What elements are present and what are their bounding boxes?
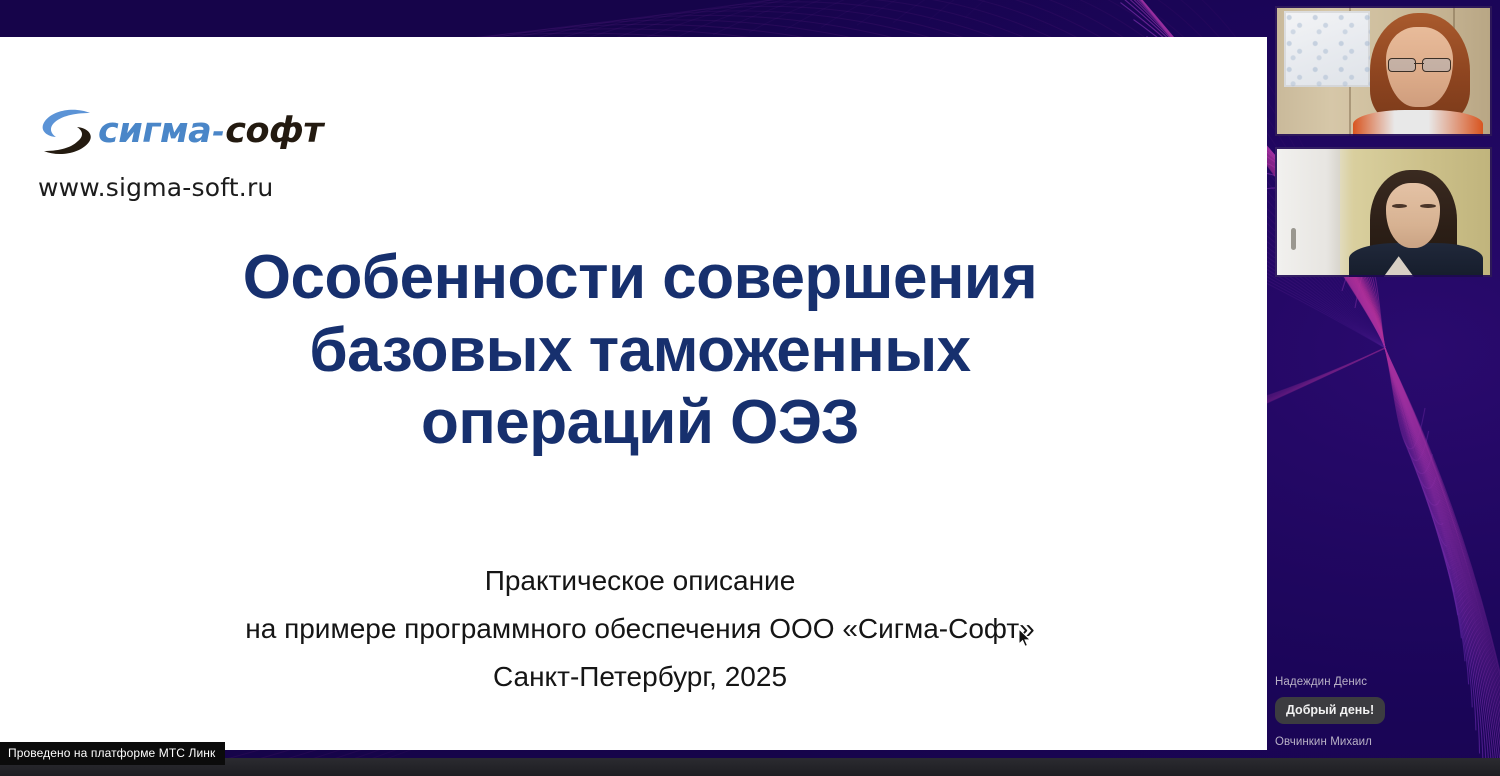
participants-panel: Надеждин Денис Добрый день! Овчинкин Мих… (1267, 0, 1500, 776)
slide-subtitle-line-1: Практическое описание (80, 557, 1200, 605)
video-conference-screen: сигма-софт www.sigma-soft.ru Особенности… (0, 0, 1500, 776)
curtain-pattern (1284, 11, 1371, 86)
sigma-soft-swoosh-icon (38, 105, 94, 157)
slide-subtitle-line-3: Санкт-Петербург, 2025 (80, 653, 1200, 701)
door-behind-participant-2 (1275, 147, 1340, 277)
chat-author-1: Надеждин Денис (1275, 676, 1495, 688)
glasses-right-lens (1422, 58, 1450, 72)
window-behind-participant-1 (1284, 11, 1371, 86)
chat-overlay[interactable]: Надеждин Денис Добрый день! Овчинкин Мих… (1275, 676, 1495, 748)
slide-title: Особенности совершения базовых таможенны… (120, 242, 1160, 460)
logo-word-dash: - (211, 115, 225, 150)
chat-message-bubble-1[interactable]: Добрый день! (1275, 697, 1385, 724)
presentation-slide[interactable]: сигма-софт www.sigma-soft.ru Особенности… (0, 37, 1267, 750)
participant-2-torso (1349, 243, 1484, 277)
slide-title-line-3: операций ОЭЗ (120, 387, 1160, 460)
platform-watermark: Проведено на платформе МТС Линк (0, 742, 225, 765)
slide-title-line-2: базовых таможенных (120, 315, 1160, 388)
participant-video-tile-2[interactable] (1275, 147, 1492, 277)
company-logo-block: сигма-софт www.sigma-soft.ru (38, 103, 378, 202)
door-handle (1291, 228, 1296, 250)
glasses-bridge (1414, 63, 1424, 65)
company-website-url: www.sigma-soft.ru (38, 173, 378, 202)
slide-subtitle: Практическое описание на примере програм… (80, 557, 1200, 701)
slide-title-line-1: Особенности совершения (120, 242, 1160, 315)
participant-video-tile-1[interactable] (1275, 6, 1492, 136)
logo-word-dark: софт (225, 111, 323, 151)
participant-1-torso (1353, 110, 1483, 136)
logo-word-blue: сигма (98, 111, 211, 151)
glasses-icon (1388, 58, 1451, 70)
chat-author-2: Овчинкин Михаил (1275, 736, 1495, 748)
participant-2-right-eye (1420, 204, 1435, 208)
slide-subtitle-line-2: на примере программного обеспечения ООО … (80, 605, 1200, 653)
glasses-left-lens (1388, 58, 1416, 72)
